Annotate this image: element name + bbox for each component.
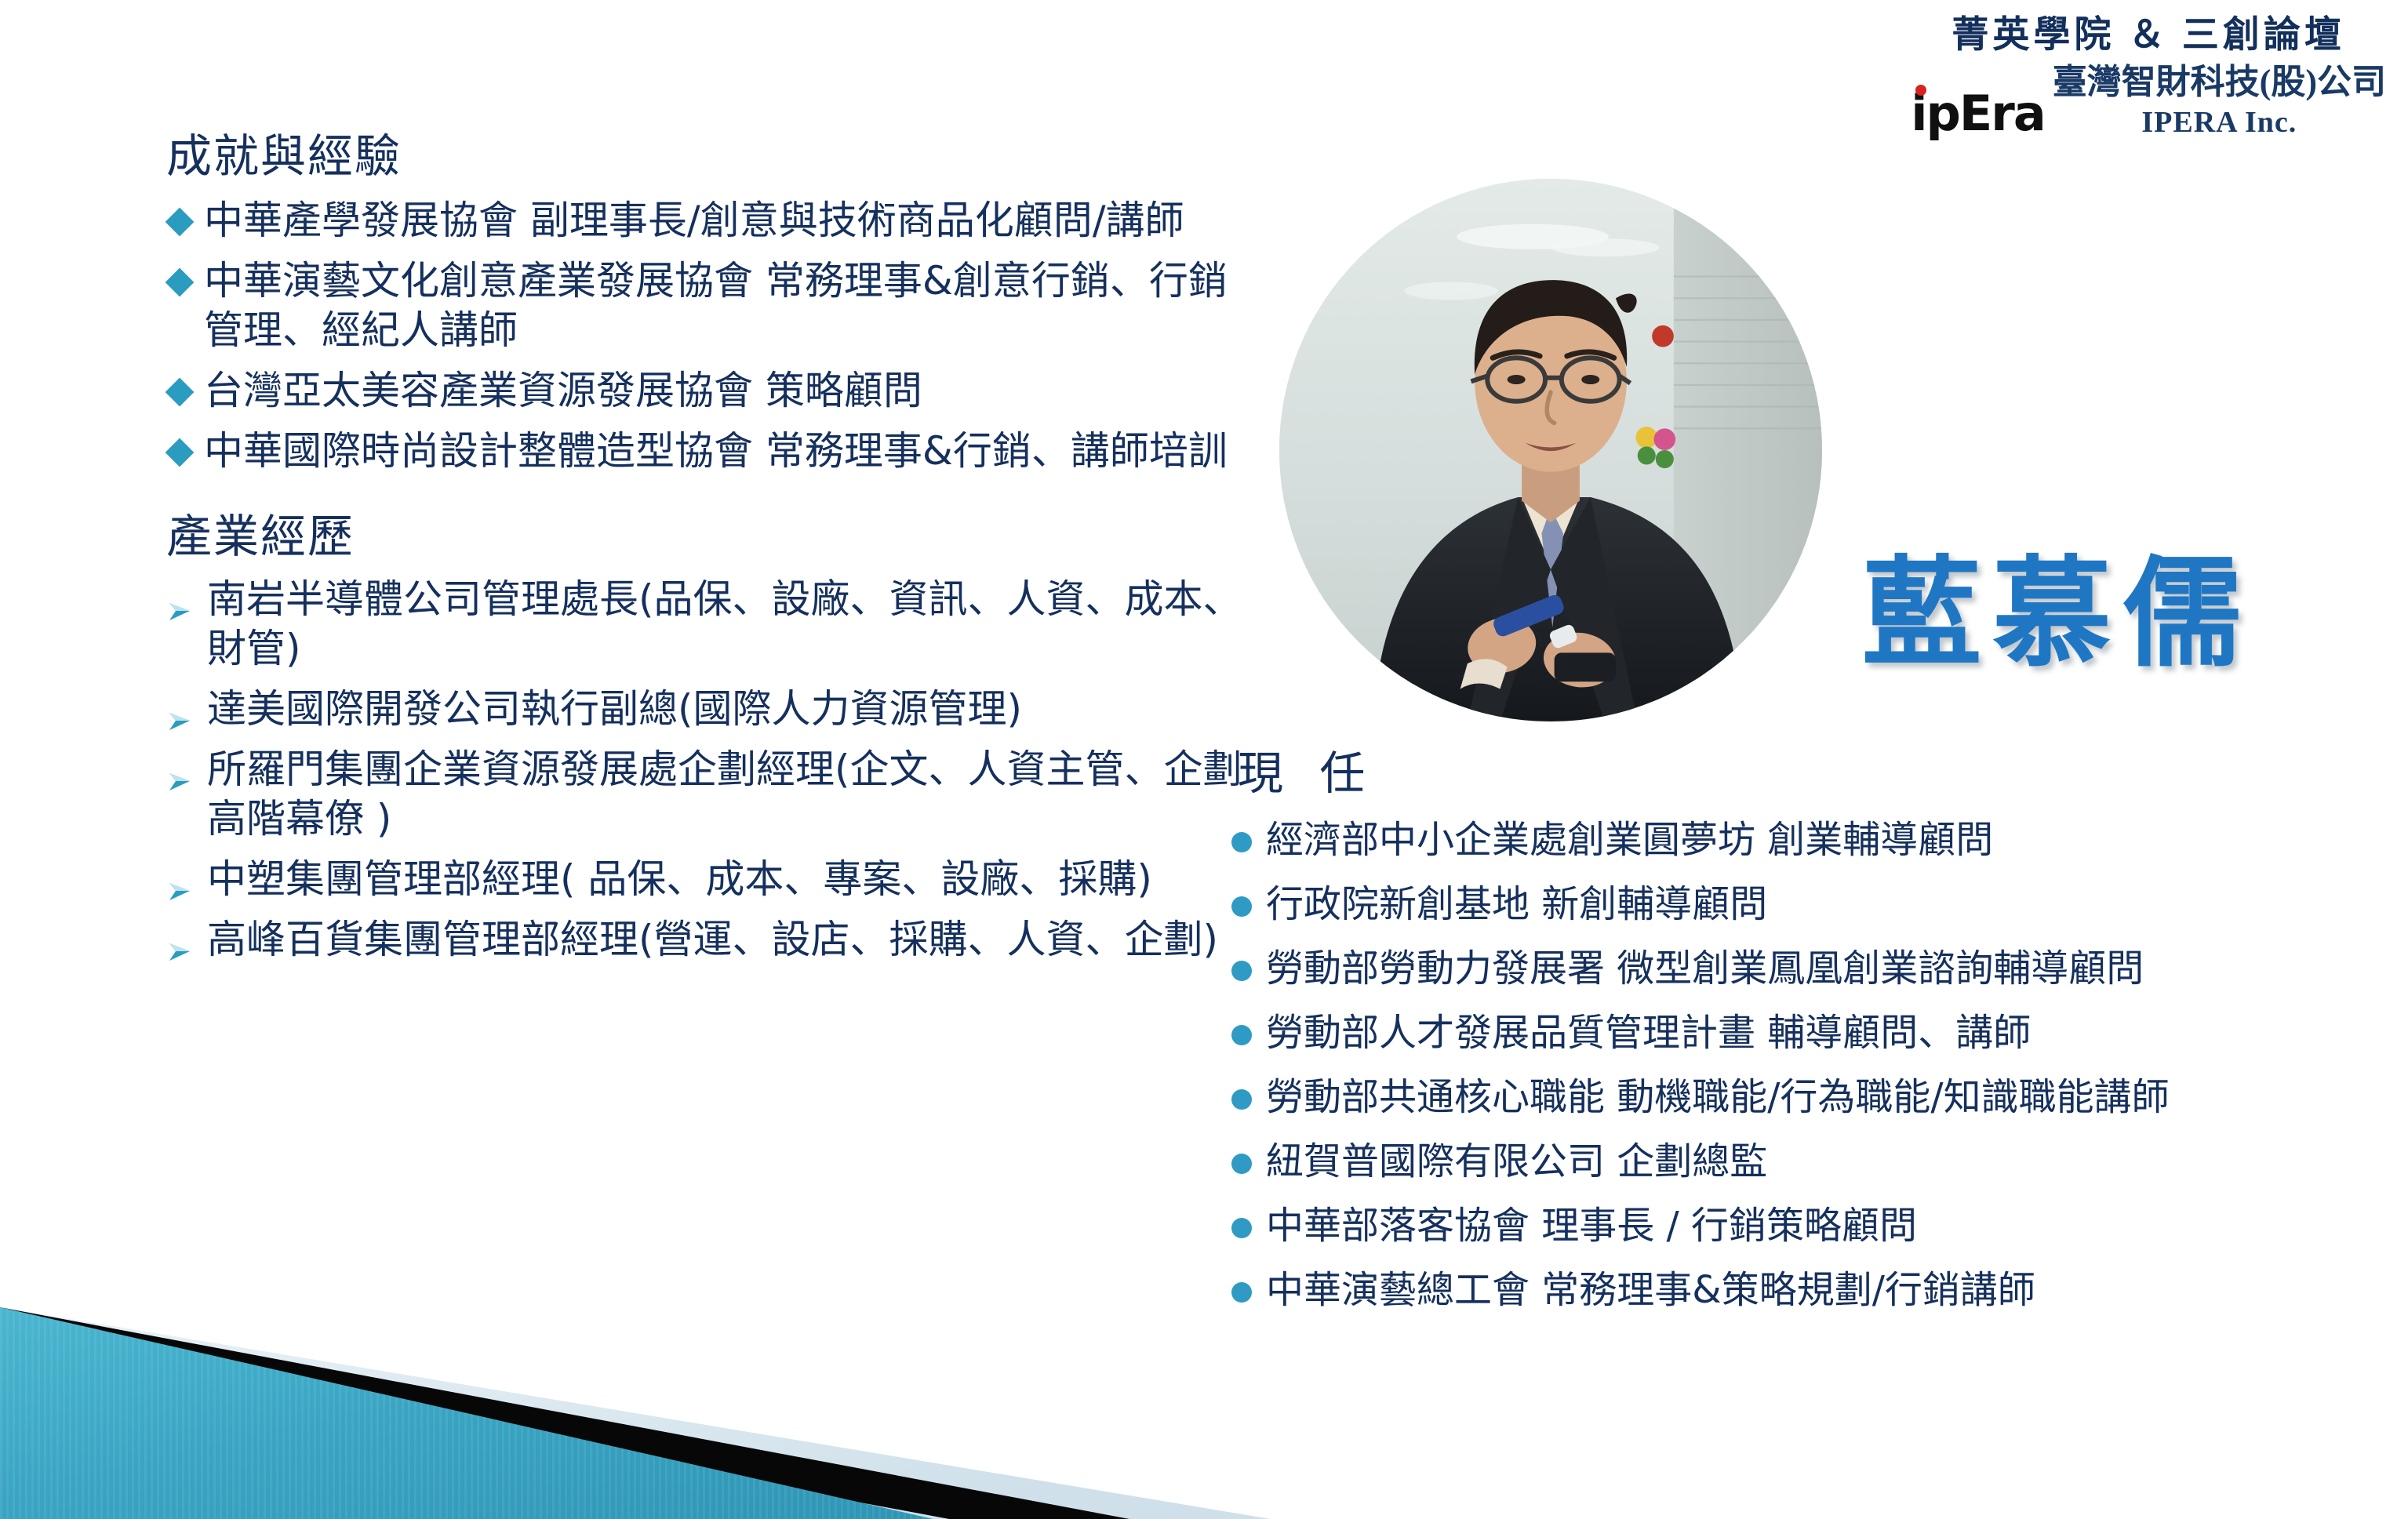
circle-bullet-icon [1231,1089,1252,1110]
arrow-bullet-icon [166,928,193,954]
list-item: 中華演藝文化創意產業發展協會 常務理事&創意行銷、行銷管理、經紀人講師 [166,256,1249,355]
forum-title: 菁英學院 ＆ 三創論壇 [1911,17,2386,54]
industry-section-title: 產業經歷 [166,512,1249,562]
achievement-text: 中華國際時尚設計整體造型協會 常務理事&行銷、講師培訓 [204,427,1249,476]
arrow-bullet-icon [166,867,193,894]
ipera-wordmark-icon: ipEra [1911,88,2044,137]
slide-canvas: 菁英學院 ＆ 三創論壇 ipEra 臺灣智財科技(股)公司 IPERA Inc. [0,0,2408,1519]
list-item: 中華產學發展協會 副理事長/創意與技術商品化顧問/講師 [166,196,1249,245]
list-item: 高峰百貨集團管理部經理(營運、設店、採購、人資、企劃) [166,915,1249,965]
diamond-bullet-icon [166,438,195,467]
list-item: 經濟部中小企業處創業圓夢坊 創業輔導顧問 [1231,816,2392,863]
current-position-text: 勞動部共通核心職能 動機職能/行為職能/知識職能講師 [1266,1074,2392,1121]
list-item: 中華部落客協會 理事長 / 行銷策略顧問 [1231,1202,2392,1249]
corner-pale-band [0,1307,1271,1519]
circle-bullet-icon [1231,832,1252,852]
corner-shapes-svg [0,1190,1271,1519]
diamond-bullet-icon [166,267,195,296]
list-item: 勞動部人才發展品質管理計畫 輔導顧問、講師 [1231,1009,2392,1056]
list-item: 中華國際時尚設計整體造型協會 常務理事&行銷、講師培訓 [166,427,1249,476]
list-item: 達美國際開發公司執行副總(國際人力資源管理) [166,685,1249,734]
ipera-wordmark-text: ipEra [1911,85,2044,142]
circle-bullet-icon [1231,1282,1252,1303]
company-name-en: IPERA Inc. [2053,107,2386,137]
current-position-text: 行政院新創基地 新創輔導顧問 [1266,881,2392,928]
company-name-cn: 臺灣智財科技(股)公司 [2053,64,2386,101]
arrow-bullet-icon [166,758,193,784]
achievement-text: 中華演藝文化創意產業發展協會 常務理事&創意行銷、行銷管理、經紀人講師 [204,256,1249,355]
achievements-section-title: 成就與經驗 [166,132,1249,182]
industry-list: 南岩半導體公司管理處長(品保、設廠、資訊、人資、成本、財管) 達美國際開發公司執… [166,575,1249,965]
speaker-portrait-photo [1279,179,1822,721]
circle-bullet-icon [1231,896,1252,917]
corner-black-stripe [0,1307,1129,1519]
logo-block: 菁英學院 ＆ 三創論壇 ipEra 臺灣智財科技(股)公司 IPERA Inc. [1911,17,2386,137]
circle-bullet-icon [1231,961,1252,981]
portrait-illustration [1279,179,1822,721]
current-section-title: 現 任 [1238,749,2392,799]
list-item: 行政院新創基地 新創輔導顧問 [1231,881,2392,928]
current-position-text: 中華部落客協會 理事長 / 行銷策略顧問 [1266,1202,2392,1249]
achievement-text: 台灣亞太美容產業資源發展協會 策略顧問 [204,366,1249,416]
circle-bullet-icon [1231,1154,1252,1174]
current-position-text: 經濟部中小企業處創業圓夢坊 創業輔導顧問 [1266,816,2392,863]
arrow-bullet-icon [166,587,193,614]
list-item: 勞動部勞動力發展署 微型創業鳳凰創業諮詢輔導顧問 [1231,945,2392,992]
list-item: 所羅門集團企業資源發展處企劃經理(企文、人資主管、企劃高階幕僚 ) [166,745,1249,844]
current-position-text: 勞動部勞動力發展署 微型創業鳳凰創業諮詢輔導顧問 [1266,945,2392,992]
current-position-text: 紐賀普國際有限公司 企劃總監 [1266,1138,2392,1185]
list-item: 紐賀普國際有限公司 企劃總監 [1231,1138,2392,1185]
achievement-text: 中華產學發展協會 副理事長/創意與技術商品化顧問/講師 [204,196,1249,245]
diagonal-corner-graphic [0,1190,1271,1519]
list-item: 中華演藝總工會 常務理事&策略規劃/行銷講師 [1231,1266,2392,1314]
current-position-text: 勞動部人才發展品質管理計畫 輔導顧問、講師 [1266,1009,2392,1056]
left-column: 成就與經驗 中華產學發展協會 副理事長/創意與技術商品化顧問/講師 中華演藝文化… [166,132,1249,976]
current-position-text: 中華演藝總工會 常務理事&策略規劃/行銷講師 [1266,1266,2392,1314]
industry-text: 達美國際開發公司執行副總(國際人力資源管理) [207,685,1249,734]
corner-teal-triangle [0,1307,933,1519]
arrow-bullet-icon [166,697,193,724]
ipera-red-dot-icon [1915,85,1926,96]
list-item: 南岩半導體公司管理處長(品保、設廠、資訊、人資、成本、財管) [166,575,1249,674]
right-column: 現 任 經濟部中小企業處創業圓夢坊 創業輔導顧問 行政院新創基地 新創輔導顧問 … [1231,749,2392,1331]
list-item: 台灣亞太美容產業資源發展協會 策略顧問 [166,366,1249,416]
list-item: 勞動部共通核心職能 動機職能/行為職能/知識職能講師 [1231,1074,2392,1121]
corner-teal-texture [0,1307,933,1519]
company-logo-row: ipEra 臺灣智財科技(股)公司 IPERA Inc. [1911,64,2386,137]
list-item: 中塑集團管理部經理( 品保、成本、專案、設廠、採購) [166,855,1249,904]
current-positions-list: 經濟部中小企業處創業圓夢坊 創業輔導顧問 行政院新創基地 新創輔導顧問 勞動部勞… [1231,816,2392,1314]
company-name-block: 臺灣智財科技(股)公司 IPERA Inc. [2053,64,2386,137]
industry-text: 所羅門集團企業資源發展處企劃經理(企文、人資主管、企劃高階幕僚 ) [207,745,1249,844]
speaker-name: 藍慕儒 [1862,554,2253,673]
industry-text: 南岩半導體公司管理處長(品保、設廠、資訊、人資、成本、財管) [207,575,1249,674]
circle-bullet-icon [1231,1025,1252,1045]
industry-text: 中塑集團管理部經理( 品保、成本、專案、設廠、採購) [207,855,1249,904]
industry-text: 高峰百貨集團管理部經理(營運、設店、採購、人資、企劃) [207,915,1249,965]
diamond-bullet-icon [166,207,195,236]
circle-bullet-icon [1231,1218,1252,1238]
achievements-list: 中華產學發展協會 副理事長/創意與技術商品化顧問/講師 中華演藝文化創意產業發展… [166,196,1249,476]
diamond-bullet-icon [166,377,195,406]
